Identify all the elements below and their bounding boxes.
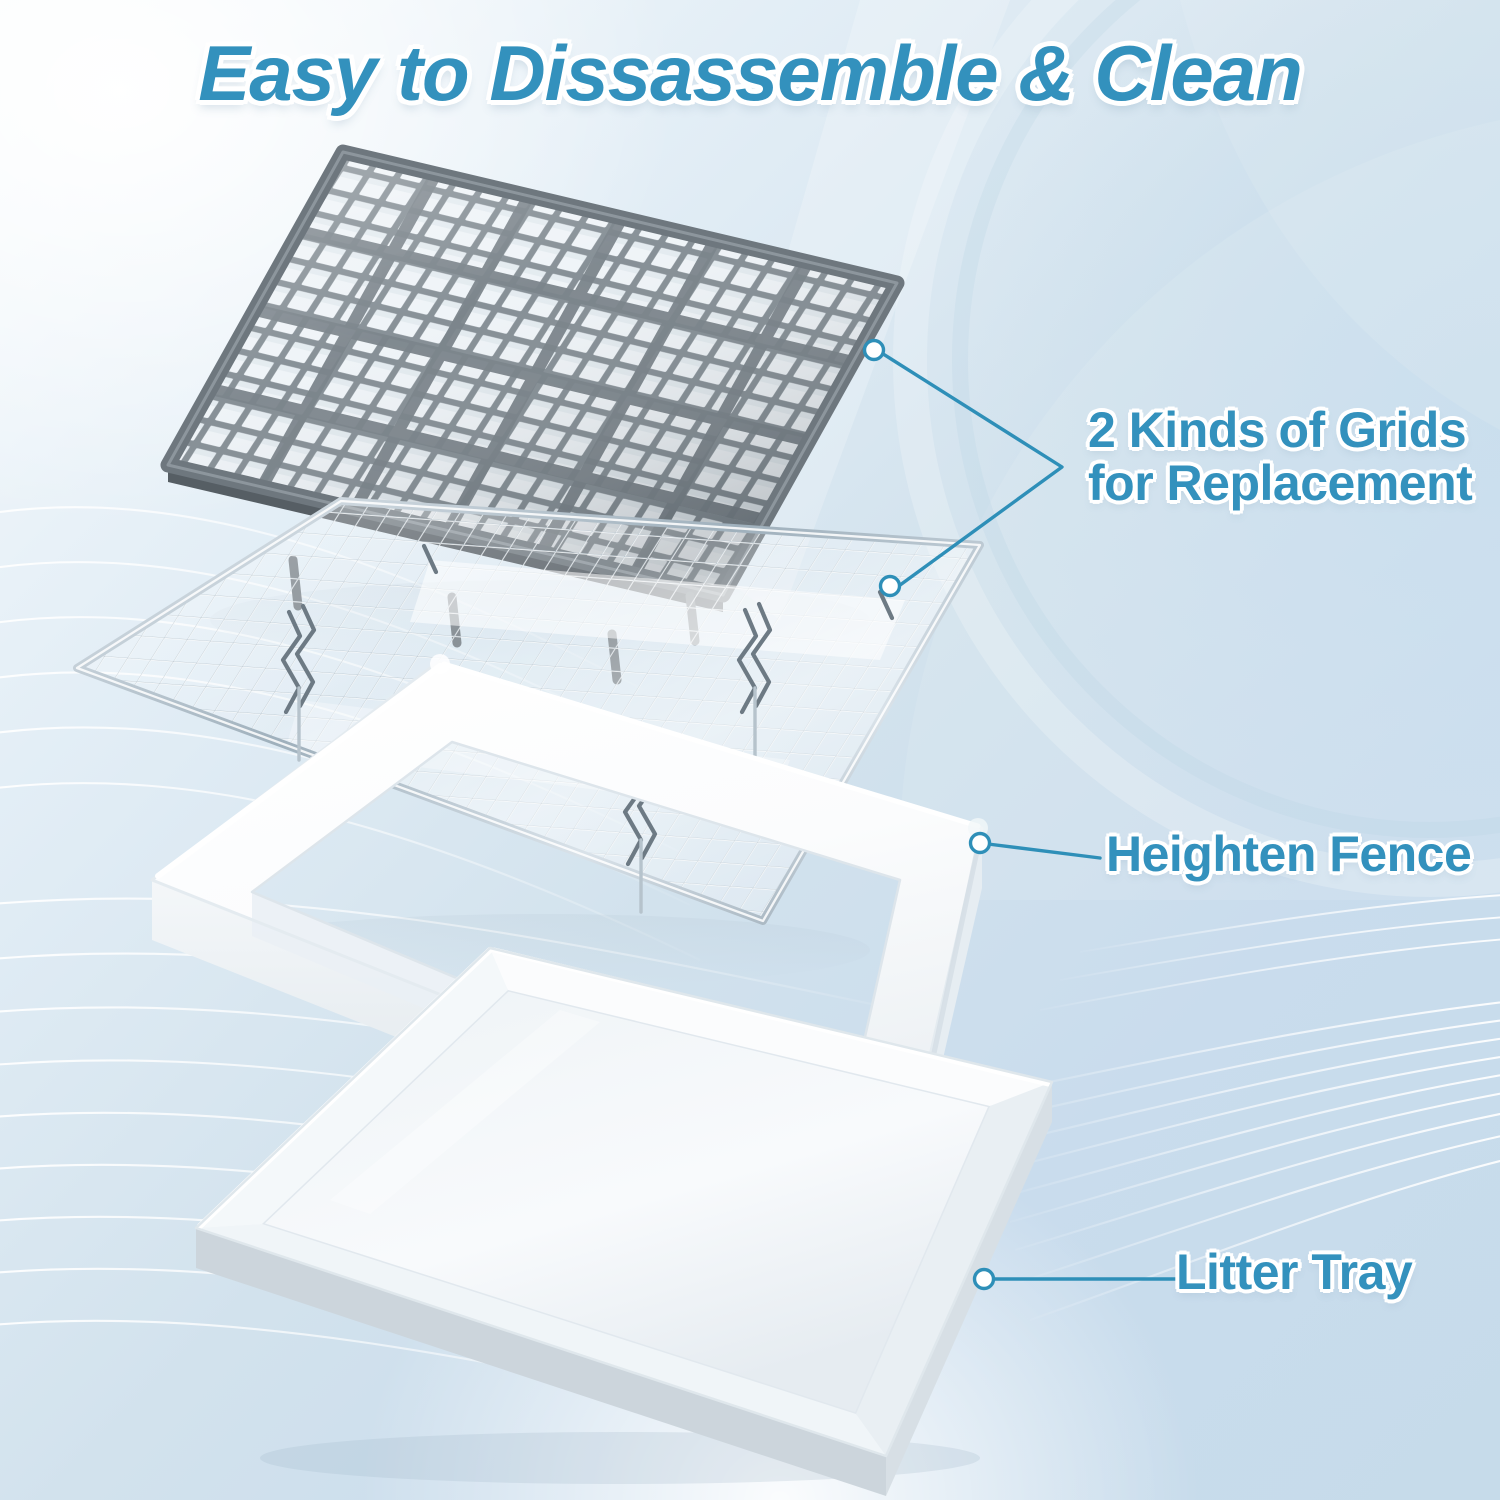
page-title: Easy to Dissassemble & Clean <box>0 28 1500 119</box>
background-swoosh-left-curved <box>0 507 700 960</box>
heighten-fence-frame <box>152 654 988 1238</box>
callout-marker-plastic-grid <box>865 341 884 360</box>
litter-tray <box>196 948 1052 1496</box>
shadow-mesh <box>210 914 870 986</box>
callout-line-fence <box>988 844 1100 858</box>
callout-label-litter-tray: Litter Tray <box>1176 1246 1412 1299</box>
product-exploded-view-infographic: Easy to Dissassemble & Clean 2 Kinds of … <box>0 0 1500 1500</box>
callout-marker-litter-tray <box>975 1270 994 1289</box>
plastic-lattice-grid <box>0 0 1357 1098</box>
callout-label-heighten-fence: Heighten Fence <box>1106 828 1471 881</box>
callout-marker-wire-mesh-grid <box>881 577 900 596</box>
background-swoosh-right-upper <box>1040 894 1500 1010</box>
shadow-lattice <box>210 580 870 660</box>
callout-label-grids: 2 Kinds of Grids for Replacement <box>1088 404 1472 510</box>
callout-marker-heighten-fence <box>971 834 990 853</box>
callout-line-grids <box>880 352 1062 588</box>
background-swoosh-left <box>0 899 900 1433</box>
